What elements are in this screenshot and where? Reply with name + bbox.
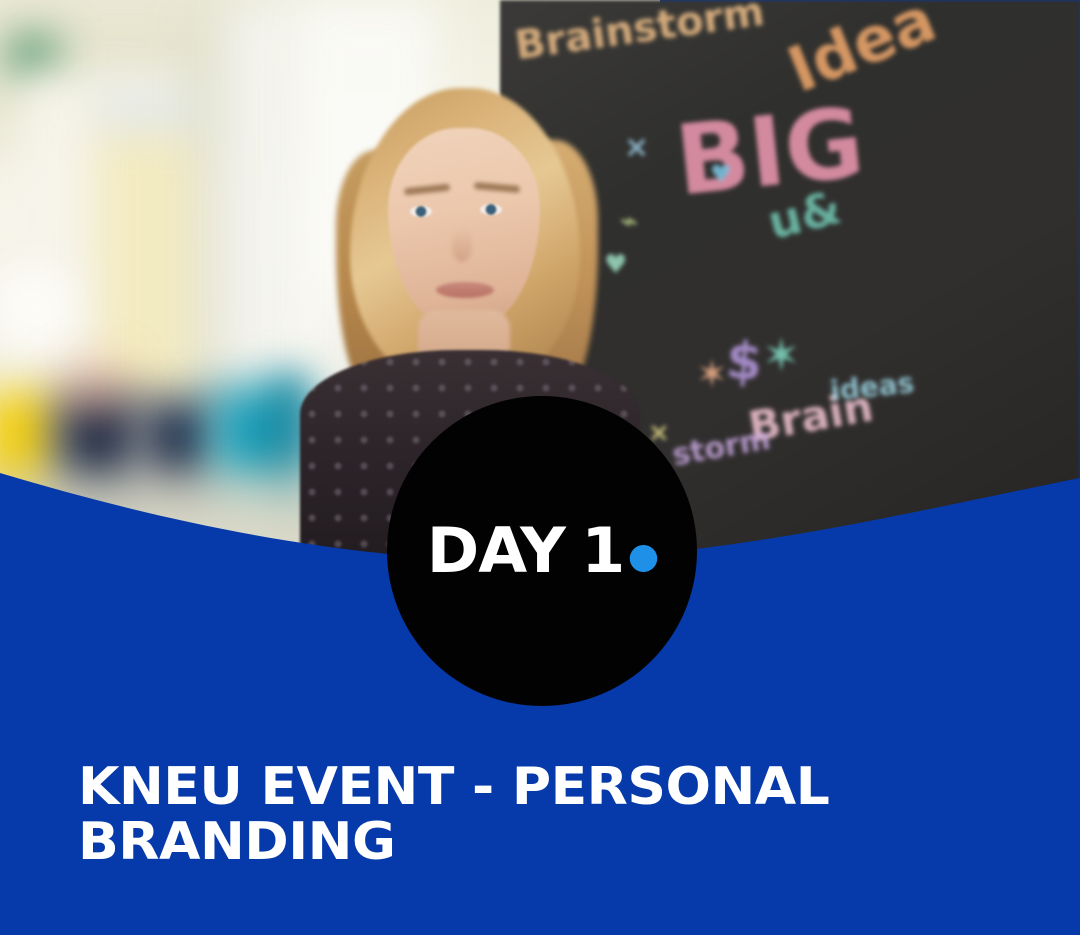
- chalk-word: ♥: [710, 160, 732, 188]
- day-badge-label: DAY1: [427, 520, 657, 582]
- chalk-word: storm: [670, 422, 773, 474]
- chalk-word: ✶: [762, 328, 801, 382]
- poster-title: KNEU EVENT - PERSONAL BRANDING: [78, 760, 1005, 870]
- chalk-word: Idea: [778, 0, 946, 107]
- chalk-word: ✶: [696, 352, 728, 396]
- accent-dot-icon: [629, 545, 657, 572]
- day-word: DAY: [427, 514, 565, 587]
- day-number: 1: [581, 514, 624, 587]
- chalk-word: $: [724, 331, 764, 393]
- chalk-word: ideas: [829, 366, 916, 408]
- poster-card: BrainstormBIGIdeaBrainstormideas$✶✶♥♥××u…: [0, 0, 1080, 935]
- day-badge: DAY1: [387, 396, 697, 706]
